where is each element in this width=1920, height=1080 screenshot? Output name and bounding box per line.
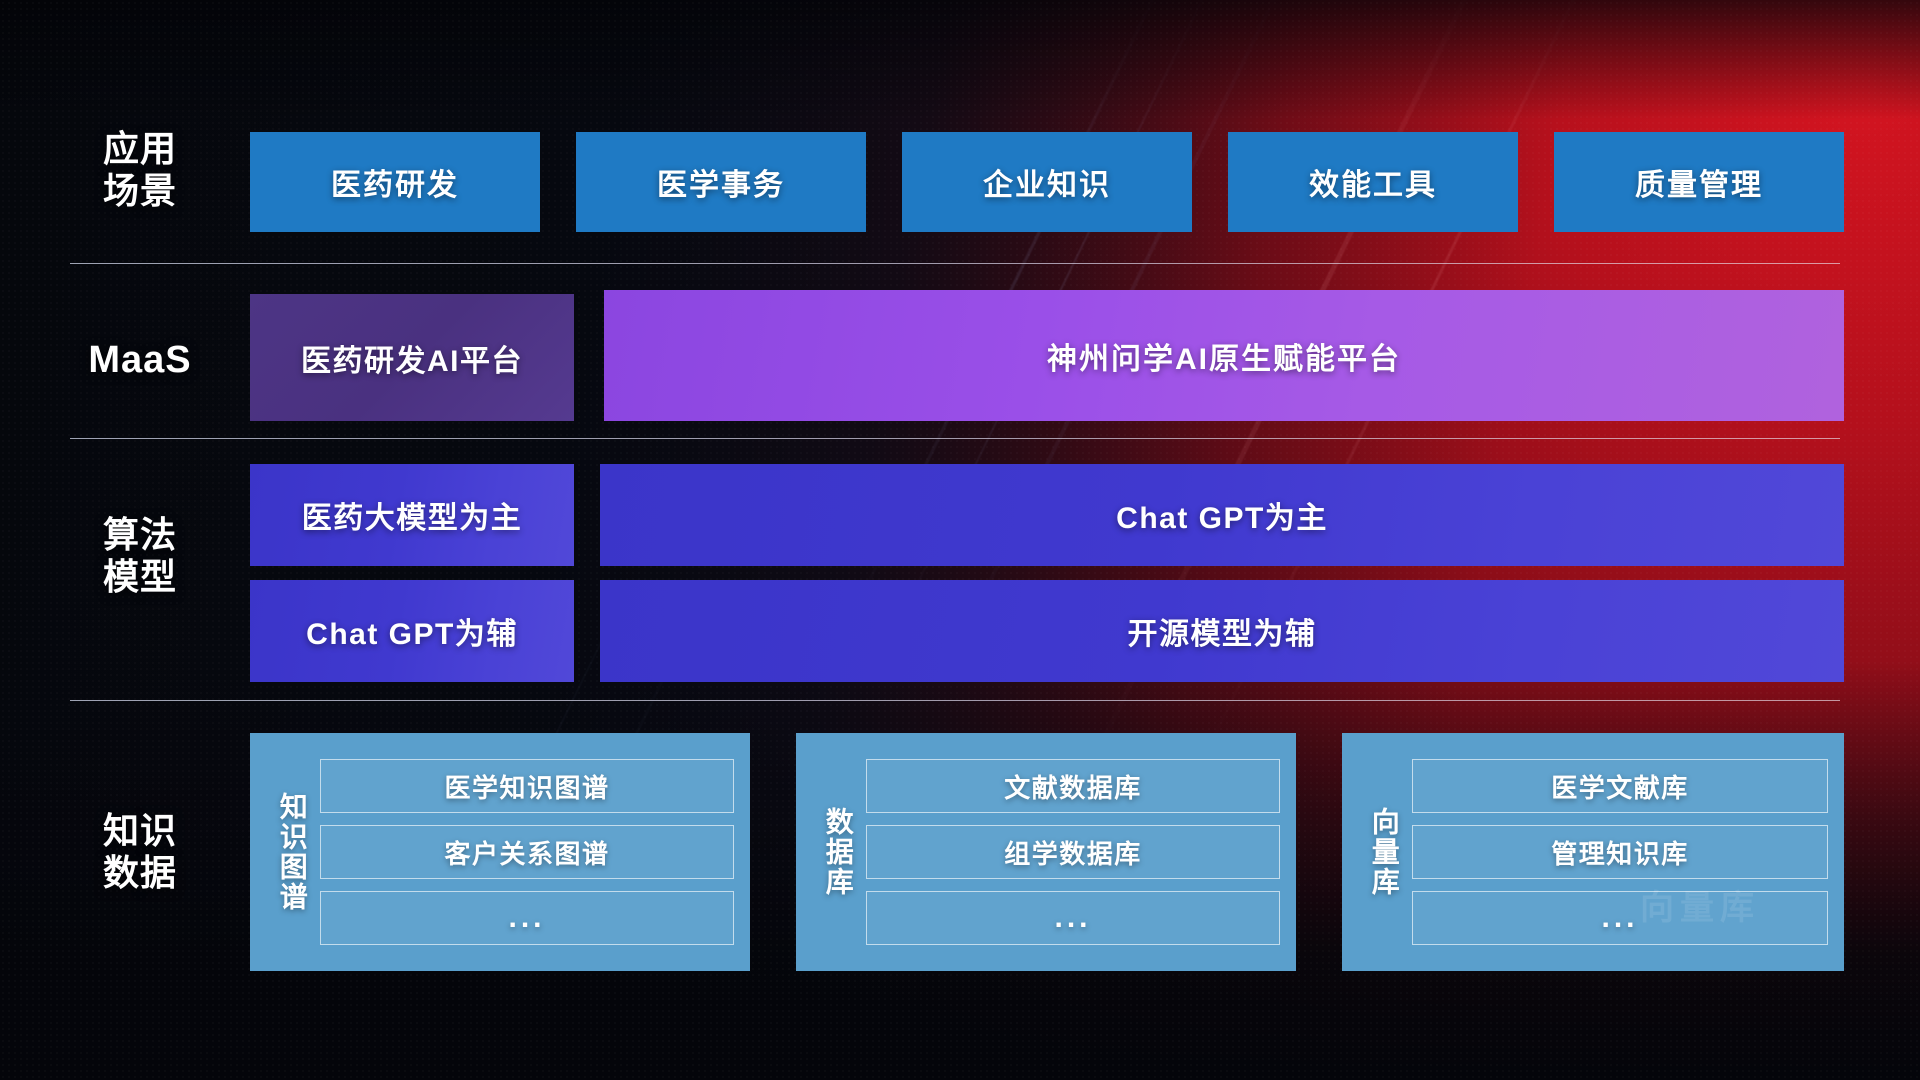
knowledge-panel-title-database: 数据库: [810, 733, 866, 971]
knowledge-item-list: 文献数据库 组学数据库 ...: [866, 759, 1280, 945]
knowledge-panel-title-knowledge-graph: 知识图谱: [264, 733, 320, 971]
knowledge-item[interactable]: 组学数据库: [866, 825, 1280, 879]
row-label-maas: MaaS: [70, 338, 210, 383]
knowledge-panel-knowledge-graph[interactable]: 知识图谱 医学知识图谱 客户关系图谱 ...: [250, 733, 750, 971]
algo-card-chatgpt-secondary[interactable]: Chat GPT为辅: [250, 580, 574, 682]
app-card-quality-management[interactable]: 质量管理: [1554, 132, 1844, 232]
knowledge-panel-database[interactable]: 数据库 文献数据库 组学数据库 ...: [796, 733, 1296, 971]
knowledge-panel-vector-store[interactable]: 向量库 医学文献库 管理知识库 ...: [1342, 733, 1844, 971]
app-card-medicine-rd[interactable]: 医药研发: [250, 132, 540, 232]
maas-card-shenzhou-wenxue-platform[interactable]: 神州问学AI原生赋能平台: [604, 290, 1844, 421]
divider-after-application-row: [70, 263, 1840, 264]
row-label-application-scenarios: 应用 场景: [70, 128, 210, 213]
knowledge-item-list: 医学文献库 管理知识库 ...: [1412, 759, 1828, 945]
row-label-algorithm-model: 算法 模型: [70, 514, 210, 599]
app-card-enterprise-knowledge[interactable]: 企业知识: [902, 132, 1192, 232]
divider-after-maas-row: [70, 438, 1840, 439]
knowledge-item-more[interactable]: ...: [1412, 891, 1828, 945]
knowledge-item[interactable]: 管理知识库: [1412, 825, 1828, 879]
row-label-knowledge-data: 知识 数据: [70, 810, 210, 895]
knowledge-item-more[interactable]: ...: [866, 891, 1280, 945]
maas-card-medicine-ai-platform[interactable]: 医药研发AI平台: [250, 294, 574, 421]
architecture-diagram: 应用 场景 医药研发 医学事务 企业知识 效能工具 质量管理 MaaS 医药研发…: [0, 0, 1920, 1080]
algo-card-open-source-secondary[interactable]: 开源模型为辅: [600, 580, 1844, 682]
app-card-medical-affairs[interactable]: 医学事务: [576, 132, 866, 232]
knowledge-item[interactable]: 客户关系图谱: [320, 825, 734, 879]
divider-after-algorithm-row: [70, 700, 1840, 701]
knowledge-item-list: 医学知识图谱 客户关系图谱 ...: [320, 759, 734, 945]
app-card-efficiency-tools[interactable]: 效能工具: [1228, 132, 1518, 232]
knowledge-item-more[interactable]: ...: [320, 891, 734, 945]
watermark-text: 向量库: [1640, 880, 1760, 929]
knowledge-item[interactable]: 医学知识图谱: [320, 759, 734, 813]
knowledge-panel-title-vector-store: 向量库: [1356, 733, 1412, 971]
knowledge-item[interactable]: 医学文献库: [1412, 759, 1828, 813]
algo-card-medicine-llm-primary[interactable]: 医药大模型为主: [250, 464, 574, 566]
knowledge-item[interactable]: 文献数据库: [866, 759, 1280, 813]
algo-card-chatgpt-primary[interactable]: Chat GPT为主: [600, 464, 1844, 566]
